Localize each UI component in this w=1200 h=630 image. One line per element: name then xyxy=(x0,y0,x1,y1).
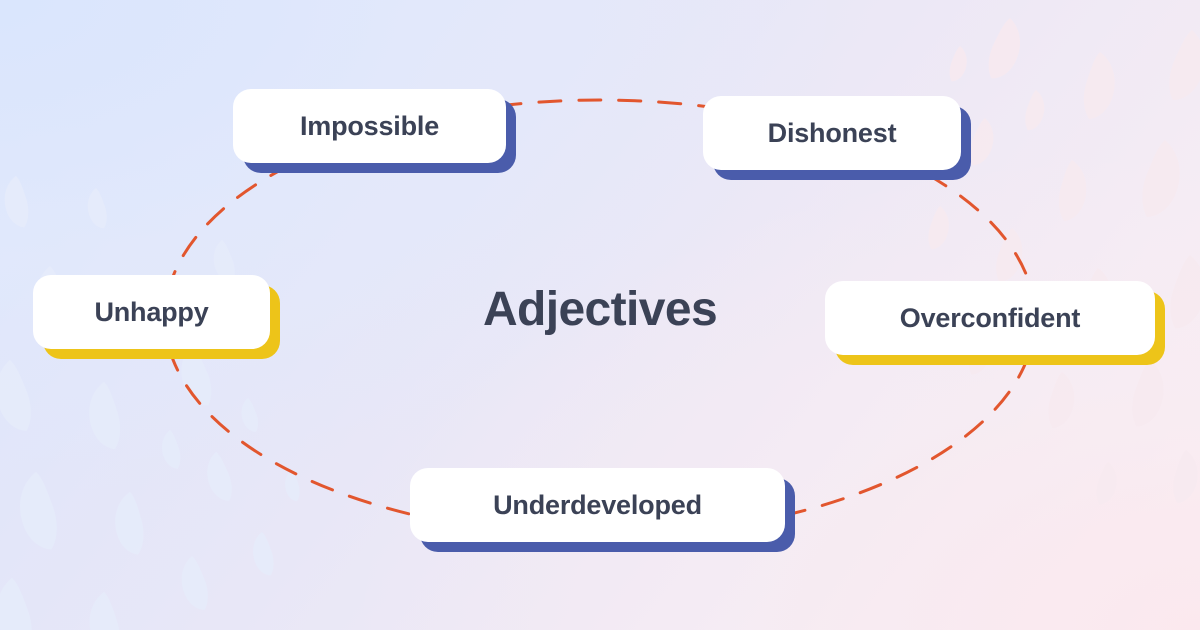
word-node-underdeveloped[interactable]: Underdeveloped xyxy=(410,468,785,542)
word-node-label: Overconfident xyxy=(900,305,1080,332)
word-node-label: Underdeveloped xyxy=(493,492,702,519)
word-node-label: Impossible xyxy=(300,113,439,140)
word-node-label: Dishonest xyxy=(768,120,897,147)
word-map-canvas: Adjectives Impossible Dishonest Unhappy … xyxy=(0,0,1200,630)
word-node-overconfident[interactable]: Overconfident xyxy=(825,281,1155,355)
word-node-dishonest[interactable]: Dishonest xyxy=(703,96,961,170)
word-node-impossible[interactable]: Impossible xyxy=(233,89,506,163)
word-node-unhappy[interactable]: Unhappy xyxy=(33,275,270,349)
word-node-label: Unhappy xyxy=(94,299,208,326)
